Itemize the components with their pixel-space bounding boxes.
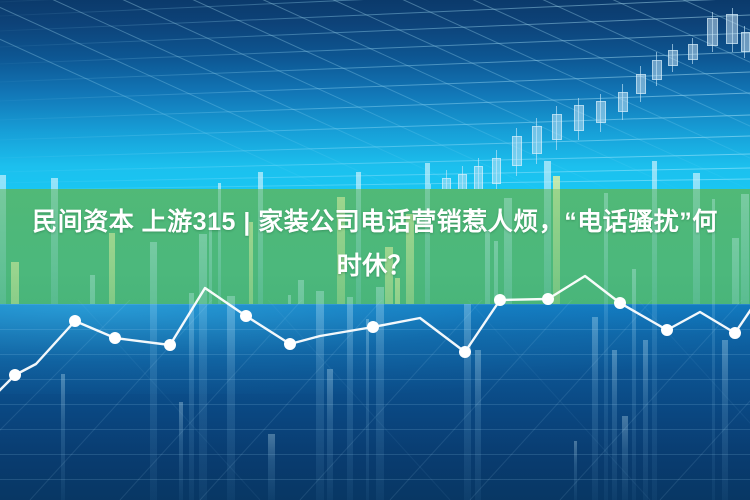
line-marker [494,294,506,306]
line-marker [367,321,379,333]
line-marker [109,332,121,344]
headline-line-2: 时休？ [337,252,414,280]
line-marker [614,297,626,309]
line-marker [284,338,296,350]
line-marker [542,293,554,305]
page-title: 民间资本 上游315 | 家装公司电话营销惹人烦，“电话骚扰”何 时休？ [0,200,750,288]
promo-banner-image: 民间资本 上游315 | 家装公司电话营销惹人烦，“电话骚扰”何 时休？ [0,0,750,500]
line-marker [729,327,741,339]
headline-line-1: 民间资本 上游315 | 家装公司电话营销惹人烦，“电话骚扰”何 [32,208,718,236]
line-marker [459,346,471,358]
line-marker [164,339,176,351]
line-marker [240,310,252,322]
line-marker [9,369,21,381]
line-marker [661,324,673,336]
line-marker [69,315,81,327]
